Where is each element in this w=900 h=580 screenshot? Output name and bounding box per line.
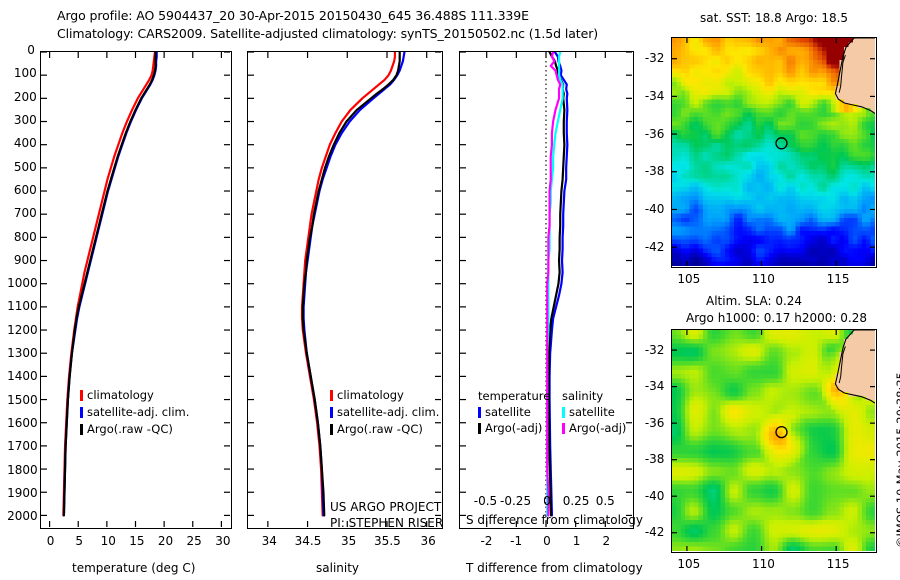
legend-swatch-climatology	[80, 390, 83, 401]
legend-swatch-satellite	[478, 407, 481, 418]
temperature-panel	[40, 51, 232, 529]
legend-item: climatology	[330, 389, 439, 402]
salinity-legend: climatology satellite-adj. clim. Argo(.r…	[330, 389, 439, 436]
legend-label: Argo(-adj)	[569, 422, 626, 435]
salinity-tick-label: 36	[420, 534, 435, 548]
sst-map-lat-tick-label: -32	[645, 51, 665, 65]
legend-item: satellite	[562, 406, 626, 419]
depth-tick-label: 1200	[7, 323, 38, 337]
difference-tick-label-bottom: -1	[510, 534, 522, 548]
depth-tick-label: 1300	[7, 346, 38, 360]
depth-tick-label: 900	[14, 253, 37, 267]
difference-xlabel-top: S difference from climatology	[466, 513, 643, 527]
depth-tick-label: 1700	[7, 439, 38, 453]
legend-item: Argo(.raw -QC)	[80, 423, 189, 436]
depth-tick-label: 1600	[7, 416, 38, 430]
difference-tick-label-bottom: 2	[602, 534, 610, 548]
legend-swatch-salinity-argo	[562, 423, 565, 434]
difference-tick-label-top: 0.5	[596, 494, 615, 508]
depth-tick-label: 1100	[7, 299, 38, 313]
sla-map-lat-tick-label: -40	[645, 489, 665, 503]
difference-legend-temperature: temperature satellite Argo(-adj)	[478, 390, 550, 435]
temperature-tick-label: 0	[47, 534, 55, 548]
salinity-xlabel: salinity	[316, 561, 359, 575]
difference-tick-label-top: 0.25	[563, 494, 590, 508]
depth-tick-label: 1900	[7, 486, 38, 500]
temperature-xlabel: temperature (deg C)	[72, 561, 195, 575]
sla-map-lat-tick-label: -34	[645, 379, 665, 393]
depth-tick-label: 1800	[7, 463, 38, 477]
depth-tick-label: 700	[14, 206, 37, 220]
footer-credit: US ARGO PROJECT PI: STEPHEN RISER	[330, 500, 443, 530]
depth-tick-label: 1400	[7, 369, 38, 383]
difference-xlabel-bottom: T difference from climatology	[466, 561, 643, 575]
legend-label: satellite-adj. clim.	[87, 406, 189, 419]
sla-map-lon-tick-label: 110	[752, 557, 775, 571]
legend-label: satellite	[485, 406, 531, 419]
page-title-line2: Climatology: CARS2009. Satellite-adjuste…	[57, 26, 598, 41]
depth-tick-label: 2000	[7, 509, 38, 523]
legend-swatch-climatology	[330, 390, 333, 401]
legend-swatch-argo	[80, 424, 83, 435]
sst-map-lon-tick-label: 105	[677, 272, 700, 286]
depth-tick-label: 500	[14, 160, 37, 174]
depth-tick-label: 400	[14, 136, 37, 150]
sst-map-lon-tick-label: 110	[752, 272, 775, 286]
difference-tick-label-bottom: 1	[573, 534, 581, 548]
legend-item: Argo(-adj)	[562, 422, 626, 435]
sst-map-lon-tick-label: 115	[827, 272, 850, 286]
sla-map-lon-tick-label: 105	[677, 557, 700, 571]
sst-map-panel	[671, 37, 877, 268]
legend-label: climatology	[87, 389, 154, 402]
difference-tick-label-top: -0.25	[500, 494, 531, 508]
depth-tick-label: 1000	[7, 276, 38, 290]
sla-map-image	[672, 330, 875, 551]
sst-map-title: sat. SST: 18.8 Argo: 18.5	[700, 11, 848, 25]
difference-legend-salinity: salinity satellite Argo(-adj)	[562, 390, 626, 435]
difference-tick-label-top: 0	[543, 494, 551, 508]
difference-tick-label-bottom: -2	[480, 534, 492, 548]
footer-line1: US ARGO PROJECT	[330, 500, 443, 514]
sla-map-title-line1: Altim. SLA: 0.24	[706, 294, 802, 308]
difference-tick-label-top: -0.5	[474, 494, 497, 508]
legend-item: Argo(-adj)	[478, 422, 550, 435]
legend-label: Argo(.raw -QC)	[337, 423, 423, 436]
sst-map-lat-tick-label: -38	[645, 164, 665, 178]
legend-item: satellite	[478, 406, 550, 419]
sst-map-lat-tick-label: -42	[645, 240, 665, 254]
temperature-tick-label: 5	[75, 534, 83, 548]
legend-label: satellite-adj. clim.	[337, 406, 439, 419]
sla-map-lat-tick-label: -36	[645, 416, 665, 430]
salinity-tick-label: 35.5	[374, 534, 401, 548]
legend-label: satellite	[569, 406, 615, 419]
sla-map-lon-tick-label: 115	[827, 557, 850, 571]
difference-plot-area	[460, 52, 632, 527]
legend-title: salinity	[562, 390, 626, 403]
copyright-credit: ©IMOS 10-May-2015 20:38:35	[894, 548, 900, 562]
legend-item: satellite-adj. clim.	[330, 406, 439, 419]
depth-tick-label: 200	[14, 90, 37, 104]
sla-map-lat-tick-label: -32	[645, 343, 665, 357]
salinity-panel	[247, 51, 443, 529]
temperature-tick-label: 15	[129, 534, 144, 548]
legend-title: temperature	[478, 390, 550, 403]
legend-swatch-satellite	[80, 407, 83, 418]
legend-item: Argo(.raw -QC)	[330, 423, 439, 436]
legend-item: satellite-adj. clim.	[80, 406, 189, 419]
legend-label: climatology	[337, 389, 404, 402]
sla-map-panel	[671, 329, 877, 553]
depth-tick-label: 1500	[7, 393, 38, 407]
sla-map-lat-tick-label: -38	[645, 452, 665, 466]
salinity-tick-label: 34.5	[295, 534, 322, 548]
page-title-line1: Argo profile: AO 5904437_20 30-Apr-2015 …	[57, 8, 529, 23]
sst-map-lat-tick-label: -34	[645, 89, 665, 103]
copyright-text: ©IMOS 10-May-2015 20:38:35	[894, 372, 900, 548]
legend-swatch-salinity-satellite	[562, 407, 565, 418]
sst-map-image	[672, 38, 875, 266]
temperature-tick-label: 25	[187, 534, 202, 548]
salinity-plot-area	[248, 52, 441, 527]
sst-map-lat-tick-label: -36	[645, 127, 665, 141]
temperature-tick-label: 20	[158, 534, 173, 548]
salinity-tick-label: 34	[262, 534, 277, 548]
legend-label: Argo(-adj)	[485, 422, 542, 435]
temperature-plot-area	[41, 52, 230, 527]
depth-tick-label: 300	[14, 113, 37, 127]
depth-tick-label: 100	[14, 66, 37, 80]
legend-group-label: salinity	[562, 390, 603, 403]
legend-item: climatology	[80, 389, 189, 402]
legend-group-label: temperature	[478, 390, 550, 403]
sst-map-lat-tick-label: -40	[645, 202, 665, 216]
depth-tick-label: 600	[14, 183, 37, 197]
sla-map-lat-tick-label: -42	[645, 525, 665, 539]
temperature-legend: climatology satellite-adj. clim. Argo(.r…	[80, 389, 189, 436]
salinity-tick-label: 35	[341, 534, 356, 548]
temperature-tick-label: 30	[215, 534, 230, 548]
difference-tick-label-bottom: 0	[543, 534, 551, 548]
legend-swatch-argo	[478, 423, 481, 434]
legend-label: Argo(.raw -QC)	[87, 423, 173, 436]
legend-swatch-satellite	[330, 407, 333, 418]
sla-map-title-line2: Argo h1000: 0.17 h2000: 0.28	[686, 311, 867, 325]
difference-panel	[459, 51, 634, 529]
footer-line2: PI: STEPHEN RISER	[330, 516, 443, 530]
temperature-tick-label: 10	[101, 534, 116, 548]
depth-tick-label: 0	[27, 43, 35, 57]
depth-tick-label: 800	[14, 230, 37, 244]
legend-swatch-argo	[330, 424, 333, 435]
